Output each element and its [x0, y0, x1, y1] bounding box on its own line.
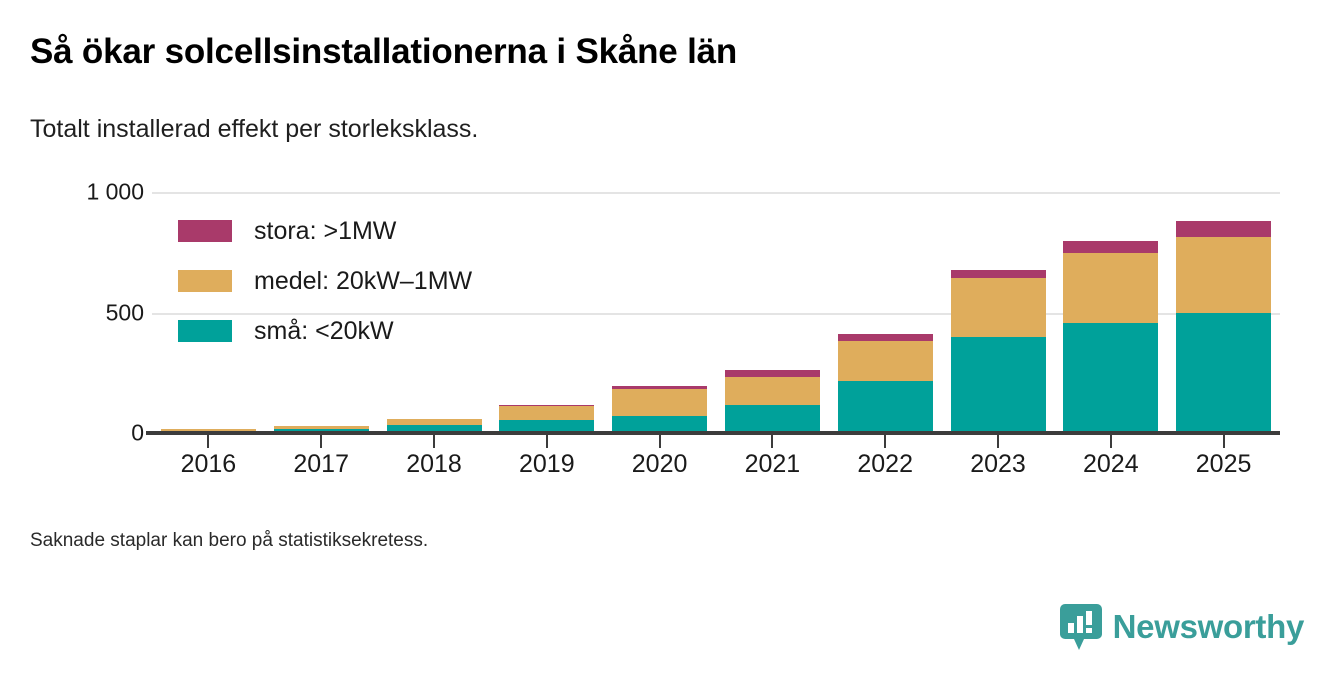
- bar-segment-sma[interactable]: [1063, 323, 1158, 433]
- chart-legend: stora: >1MWmedel: 20kW–1MWsmå: <20kW: [178, 212, 472, 362]
- bar-stack[interactable]: [1176, 192, 1271, 433]
- bar-segment-medel[interactable]: [838, 341, 933, 381]
- x-axis-tick-label: 2017: [293, 450, 349, 479]
- bar-segment-medel[interactable]: [274, 426, 369, 429]
- chart-page: Så ökar solcellsinstallationerna i Skåne…: [0, 0, 1340, 685]
- legend-item-medel[interactable]: medel: 20kW–1MW: [178, 262, 472, 300]
- x-axis-tick: [546, 435, 548, 448]
- y-axis-tick-label: 0: [131, 420, 144, 447]
- bar-stack[interactable]: [1063, 192, 1158, 433]
- newsworthy-wordmark: Newsworthy: [1113, 608, 1304, 646]
- bar-segment-stora[interactable]: [1176, 221, 1271, 236]
- x-axis-tick: [433, 435, 435, 448]
- x-axis-tick-label: 2022: [857, 450, 913, 479]
- bar-segment-stora[interactable]: [612, 386, 707, 389]
- bar-stack[interactable]: [499, 192, 594, 433]
- legend-swatch-stora: [178, 220, 232, 242]
- x-axis-tick: [1223, 435, 1225, 448]
- legend-swatch-medel: [178, 270, 232, 292]
- bar-segment-medel[interactable]: [387, 419, 482, 425]
- y-axis-tick-label: 1 000: [86, 179, 144, 206]
- x-axis-tick-label: 2023: [970, 450, 1026, 479]
- x-axis-tick: [659, 435, 661, 448]
- legend-item-sma[interactable]: små: <20kW: [178, 312, 472, 350]
- bar-stack[interactable]: [951, 192, 1046, 433]
- bar-segment-medel[interactable]: [725, 377, 820, 405]
- bar-segment-sma[interactable]: [1176, 313, 1271, 433]
- bar-stack[interactable]: [725, 192, 820, 433]
- x-axis-tick: [320, 435, 322, 448]
- x-axis-tick: [1110, 435, 1112, 448]
- bar-segment-medel[interactable]: [1176, 237, 1271, 313]
- x-axis-tick: [884, 435, 886, 448]
- bar-segment-medel[interactable]: [1063, 253, 1158, 323]
- bar-stack[interactable]: [838, 192, 933, 433]
- bar-segment-stora[interactable]: [951, 270, 1046, 278]
- newsworthy-bubble-chart-icon: [1060, 604, 1102, 650]
- x-axis-tick: [771, 435, 773, 448]
- y-axis-tick-label: 500: [106, 299, 144, 326]
- legend-label-medel: medel: 20kW–1MW: [254, 267, 472, 296]
- bar-segment-stora[interactable]: [838, 334, 933, 341]
- bar-segment-medel[interactable]: [951, 278, 1046, 337]
- bar-segment-stora[interactable]: [1063, 241, 1158, 253]
- x-axis-tick: [997, 435, 999, 448]
- x-axis-tick-label: 2020: [632, 450, 688, 479]
- bar-segment-sma[interactable]: [838, 381, 933, 433]
- bar-segment-stora[interactable]: [725, 370, 820, 377]
- bar-stack[interactable]: [612, 192, 707, 433]
- legend-label-sma: små: <20kW: [254, 317, 394, 346]
- x-axis-tick-label: 2016: [181, 450, 237, 479]
- legend-item-stora[interactable]: stora: >1MW: [178, 212, 472, 250]
- x-axis-tick-label: 2018: [406, 450, 462, 479]
- bar-segment-medel[interactable]: [499, 405, 594, 420]
- bar-segment-sma[interactable]: [725, 405, 820, 433]
- legend-label-stora: stora: >1MW: [254, 217, 396, 246]
- x-axis-tick-label: 2019: [519, 450, 575, 479]
- x-axis-tick-label: 2024: [1083, 450, 1139, 479]
- bar-segment-medel[interactable]: [612, 389, 707, 416]
- newsworthy-logo: Newsworthy: [1060, 604, 1304, 650]
- chart-container: 05001 000 201620172018201920202021202220…: [0, 0, 1340, 500]
- bar-segment-sma[interactable]: [951, 337, 1046, 433]
- x-axis-tick: [207, 435, 209, 448]
- legend-swatch-sma: [178, 320, 232, 342]
- footnote: Saknade staplar kan bero på statistiksek…: [30, 530, 428, 552]
- x-axis-tick-label: 2025: [1196, 450, 1252, 479]
- x-axis-tick-label: 2021: [745, 450, 801, 479]
